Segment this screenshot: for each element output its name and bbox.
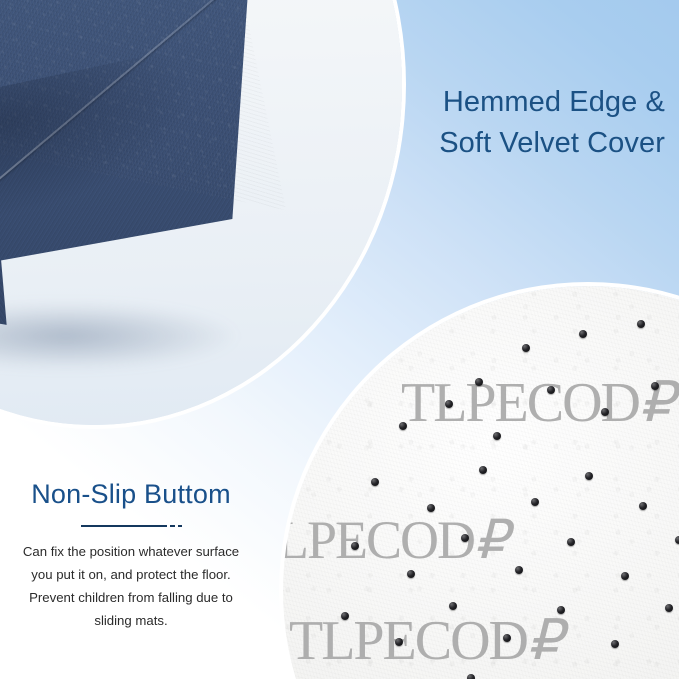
anti-slip-dot — [579, 330, 587, 338]
anti-slip-dot — [449, 602, 457, 610]
anti-slip-dot — [407, 570, 415, 578]
brand-logo-text: TLPECOD — [289, 610, 527, 672]
feature-title: Non-Slip Buttom — [0, 478, 262, 510]
anti-slip-dot — [351, 542, 359, 550]
anti-slip-dot — [651, 382, 659, 390]
anti-slip-dot — [395, 638, 403, 646]
anti-slip-dot — [522, 344, 530, 352]
divider-tick — [170, 525, 175, 527]
anti-slip-dot — [371, 478, 379, 486]
anti-slip-dot — [445, 400, 453, 408]
headline: Hemmed Edge & Soft Velvet Cover — [439, 82, 665, 164]
brand-logo-watermark: TLPECOD₽ — [401, 370, 671, 435]
brand-logo-text: TLPECOD — [401, 372, 639, 434]
anti-slip-dot — [461, 534, 469, 542]
feature-block: Non-Slip Buttom Can fix the position wha… — [0, 478, 262, 632]
anti-slip-dot — [547, 386, 555, 394]
anti-slip-dot — [493, 432, 501, 440]
cushion-top-panel — [0, 0, 288, 197]
anti-slip-dot — [399, 422, 407, 430]
anti-slip-dot — [567, 538, 575, 546]
anti-slip-dot — [611, 640, 619, 648]
feature-body: Can fix the position whatever surface yo… — [0, 541, 262, 632]
anti-slip-dot — [675, 536, 679, 544]
anti-slip-dot — [637, 320, 645, 328]
anti-slip-dot — [475, 378, 483, 386]
brand-logo-text: TLPECOD — [283, 510, 474, 570]
anti-slip-dot — [557, 606, 565, 614]
anti-slip-dot — [427, 504, 435, 512]
anti-slip-dot — [479, 466, 487, 474]
anti-slip-dot — [531, 498, 539, 506]
anti-slip-dot — [341, 612, 349, 620]
anti-slip-dot — [621, 572, 629, 580]
brand-logo-swash: ₽ — [527, 610, 559, 672]
divider-tick — [178, 525, 182, 527]
anti-slip-dot — [665, 604, 673, 612]
product-feature-image: TLPECOD₽ TLPECOD₽ TLPECOD₽ Hemmed Edge &… — [0, 0, 679, 679]
brand-logo-swash: ₽ — [474, 510, 504, 570]
non-slip-bottom-photo: TLPECOD₽ TLPECOD₽ TLPECOD₽ — [283, 286, 679, 679]
brand-logo-watermark: TLPECOD₽ — [283, 508, 504, 571]
headline-line-2: Soft Velvet Cover — [439, 123, 665, 164]
nonslip-photo-inner: TLPECOD₽ TLPECOD₽ TLPECOD₽ — [283, 286, 679, 679]
divider-bar — [81, 525, 167, 527]
anti-slip-dot — [639, 502, 647, 510]
anti-slip-dot — [467, 674, 475, 679]
headline-line-1: Hemmed Edge & — [439, 82, 665, 123]
feature-divider — [0, 525, 262, 527]
anti-slip-dot — [585, 472, 593, 480]
anti-slip-dot — [503, 634, 511, 642]
anti-slip-dot — [601, 408, 609, 416]
anti-slip-dot — [515, 566, 523, 574]
brand-logo-watermark: TLPECOD₽ — [289, 608, 559, 673]
